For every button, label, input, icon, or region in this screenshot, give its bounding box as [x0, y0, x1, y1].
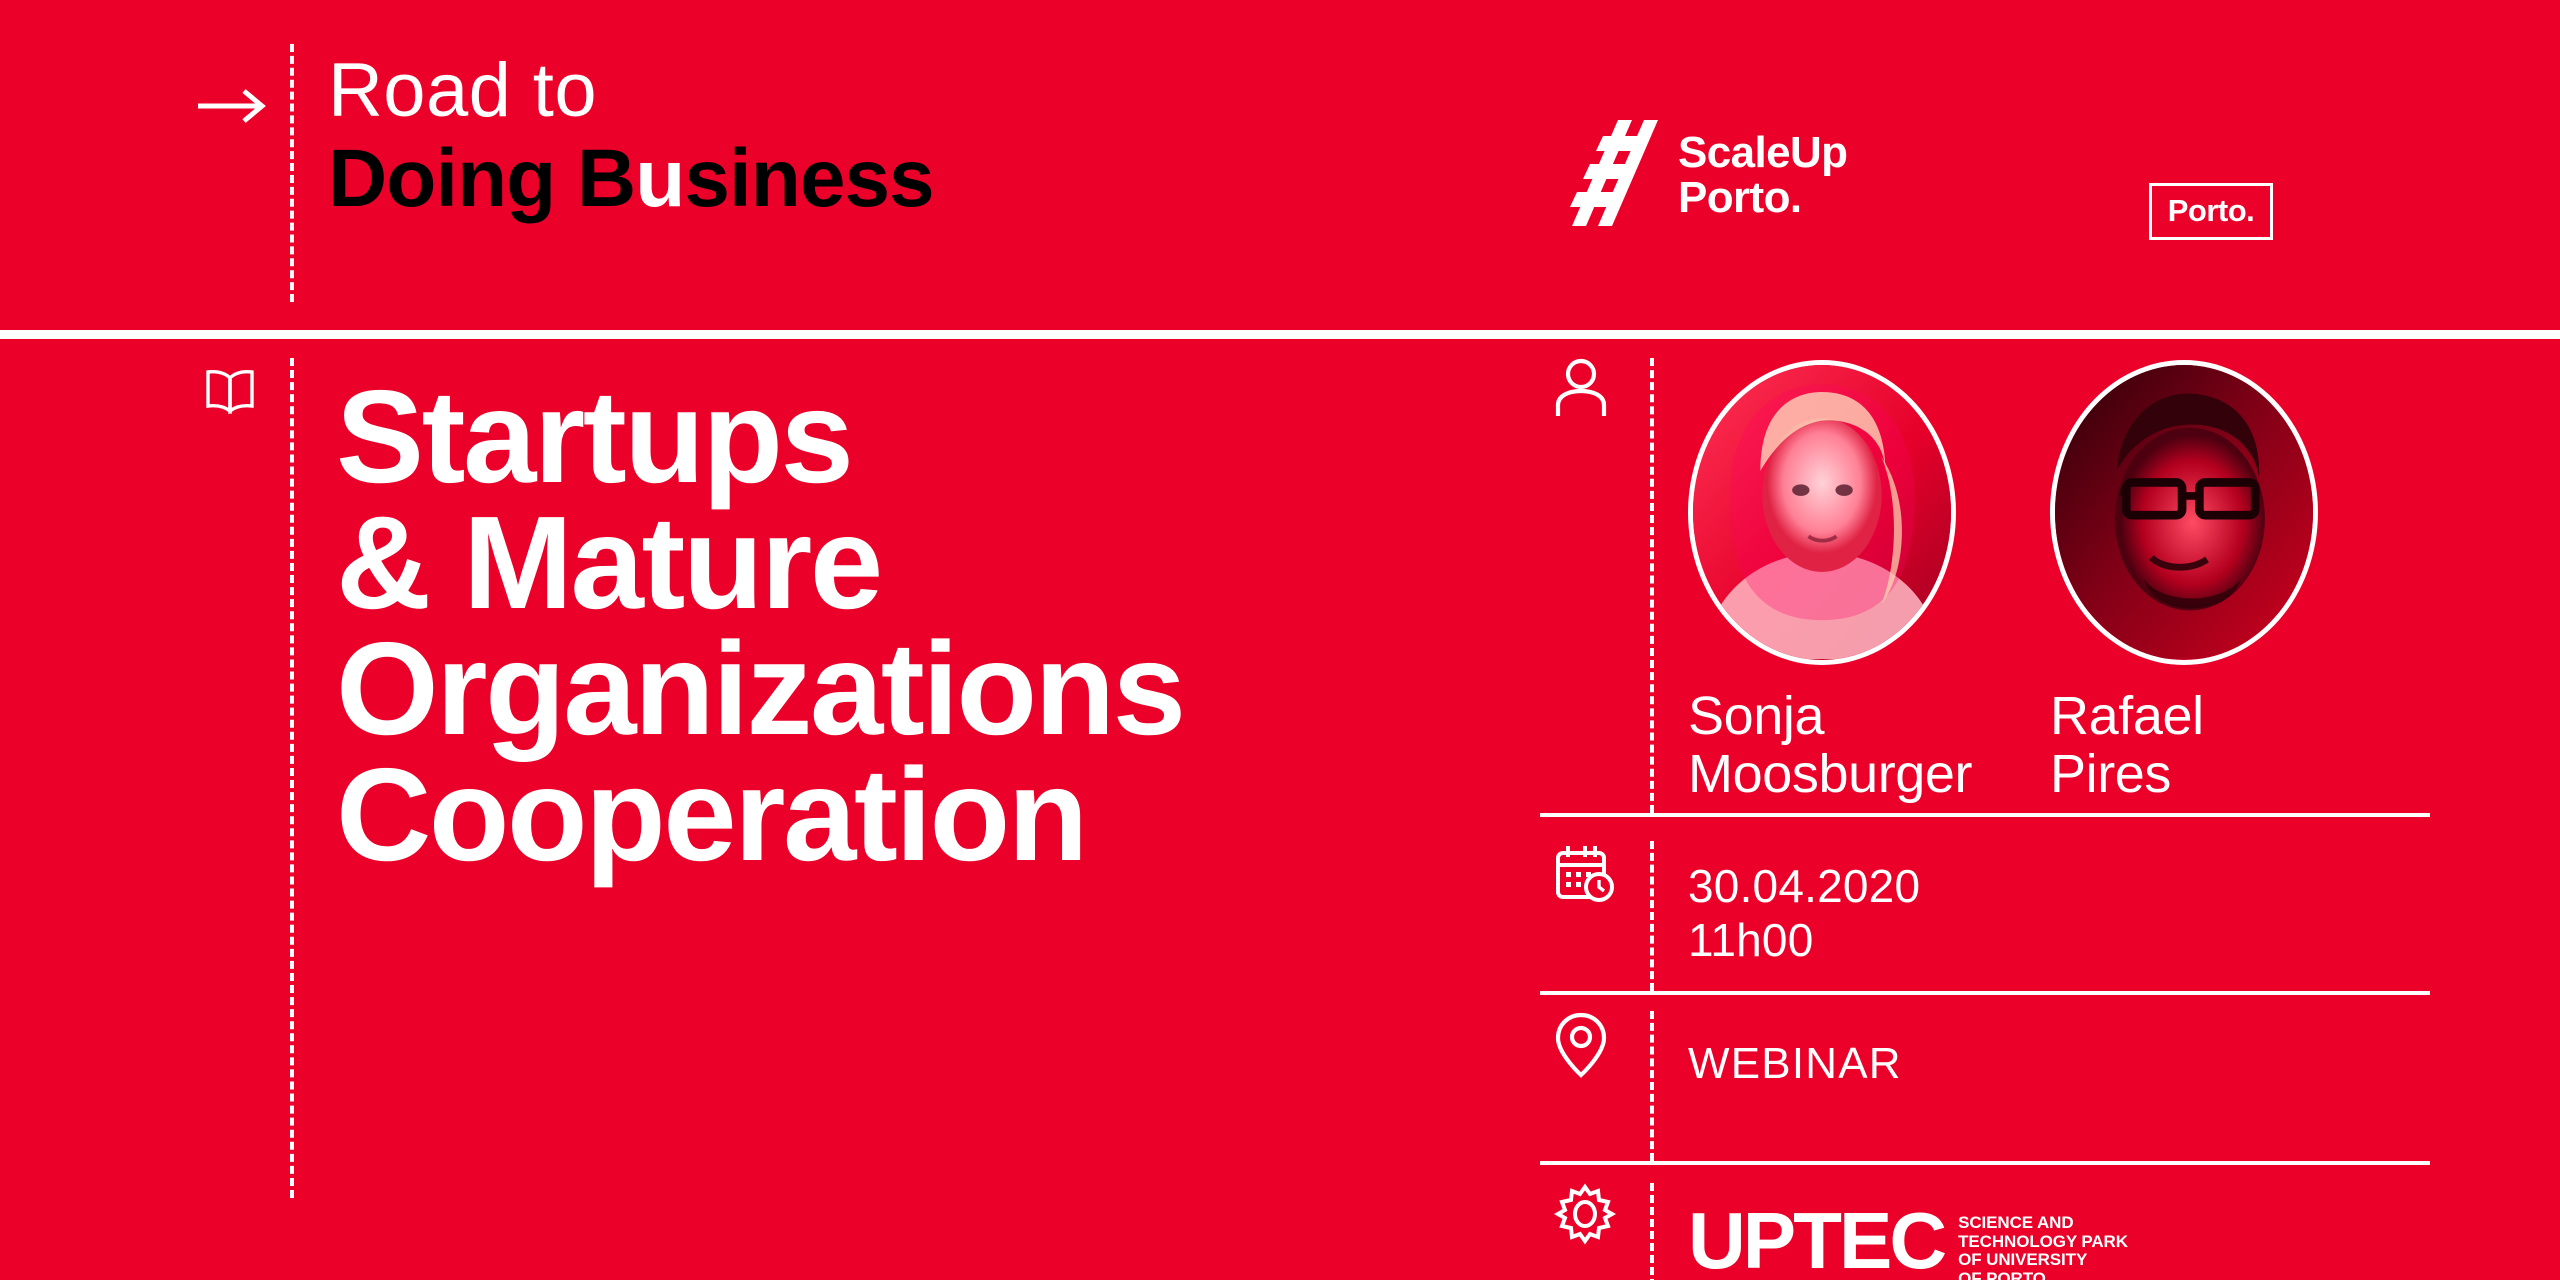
title-line-3: Organizations [336, 626, 1496, 752]
speaker-last-name: Moosburger [1688, 745, 1958, 803]
title-line-1: Startups [336, 374, 1496, 500]
speaker-last-name: Pires [2050, 745, 2320, 803]
speakers-icon-cell [1540, 358, 1650, 813]
location-pin-icon [1554, 1011, 1608, 1161]
title-line-2: & Mature [336, 500, 1496, 626]
arrow-right-icon [196, 86, 270, 126]
scaleup-line-1: ScaleUp [1678, 130, 1847, 175]
person-icon [1554, 358, 1608, 813]
date-body: 30.04.2020 11h00 [1688, 841, 2470, 991]
date-dashed-divider [1650, 841, 1654, 991]
porto-city-badge: Porto. [2149, 183, 2273, 240]
event-poster: Road to Doing Business ScaleUp Porto [0, 0, 2560, 1280]
partner-icon-cell [1540, 1183, 1650, 1280]
date-time-text: 30.04.2020 11h00 [1688, 841, 2470, 967]
header-dashed-divider [290, 44, 294, 302]
speaker-card: Rafael Pires [2050, 360, 2320, 803]
speaker-first-name: Sonja [1688, 686, 1824, 746]
gear-icon [1554, 1183, 1616, 1280]
partner-body: UPTEC Science and Technology Park of Uni… [1688, 1183, 2470, 1280]
ladder-icon [1556, 120, 1664, 226]
uptec-tagline-line-2: Technology Park [1958, 1233, 2128, 1252]
speaker-card: Sonja Moosburger [1688, 360, 1958, 803]
brand-text-doing-b: Doing B [328, 133, 635, 224]
speakers-dashed-divider [1650, 358, 1654, 813]
brand-line-road-to: Road to [328, 50, 934, 132]
speaker-name: Sonja Moosburger [1688, 687, 1958, 803]
open-book-icon [204, 368, 256, 414]
details-divider-3 [1540, 1161, 2430, 1165]
uptec-tagline: Science and Technology Park of Universit… [1958, 1205, 2128, 1280]
speaker-photo-sonja [1688, 360, 1956, 665]
details-divider-2 [1540, 991, 2430, 995]
speakers-body: Sonja Moosburger [1688, 358, 2470, 813]
title-line-4: Cooperation [336, 752, 1496, 878]
event-date: 30.04.2020 [1688, 859, 2470, 913]
location-row: WEBINAR [1540, 1011, 2470, 1161]
uptec-tagline-line-4: of Porto [1958, 1270, 2128, 1280]
porto-badge-label: Porto. [2168, 195, 2255, 226]
scaleup-porto-wordmark: ScaleUp Porto. [1678, 126, 1847, 220]
uptec-wordmark: UPTEC [1688, 1205, 1944, 1277]
header-band: Road to Doing Business ScaleUp Porto [0, 0, 2560, 330]
details-divider-1 [1540, 813, 2430, 817]
partner-row: UPTEC Science and Technology Park of Uni… [1540, 1183, 2470, 1280]
event-location: WEBINAR [1688, 1011, 2470, 1089]
page-title: Startups & Mature Organizations Cooperat… [336, 374, 1496, 878]
uptec-tagline-line-3: of University [1958, 1251, 2128, 1270]
title-dashed-divider [290, 358, 294, 1198]
location-dashed-divider [1650, 1011, 1654, 1161]
event-details-column: Sonja Moosburger [1540, 358, 2470, 1280]
location-body: WEBINAR [1688, 1011, 2470, 1161]
date-icon-cell [1540, 841, 1650, 991]
uptec-logo: UPTEC Science and Technology Park of Uni… [1688, 1183, 2470, 1280]
scaleup-line-2: Porto. [1678, 175, 1847, 220]
speakers-row: Sonja Moosburger [1540, 358, 2470, 813]
speaker-photo-rafael [2050, 360, 2318, 665]
location-icon-cell [1540, 1011, 1650, 1161]
event-time: 11h00 [1688, 913, 2470, 967]
speakers-list: Sonja Moosburger [1688, 358, 2470, 803]
brand-line-doing-business: Doing Business [328, 134, 934, 224]
brand-lockup: Road to Doing Business [328, 50, 934, 224]
brand-text-siness: siness [684, 133, 933, 224]
partner-dashed-divider [1650, 1183, 1654, 1280]
brand-highlight-u: u [635, 133, 684, 224]
scaleup-porto-logo: ScaleUp Porto. [1556, 120, 1847, 226]
date-row: 30.04.2020 11h00 [1540, 841, 2470, 991]
speaker-first-name: Rafael [2050, 686, 2204, 746]
calendar-clock-icon [1554, 841, 1616, 991]
header-divider-line [0, 330, 2560, 339]
uptec-tagline-line-1: Science and [1958, 1214, 2128, 1233]
speaker-name: Rafael Pires [2050, 687, 2320, 803]
